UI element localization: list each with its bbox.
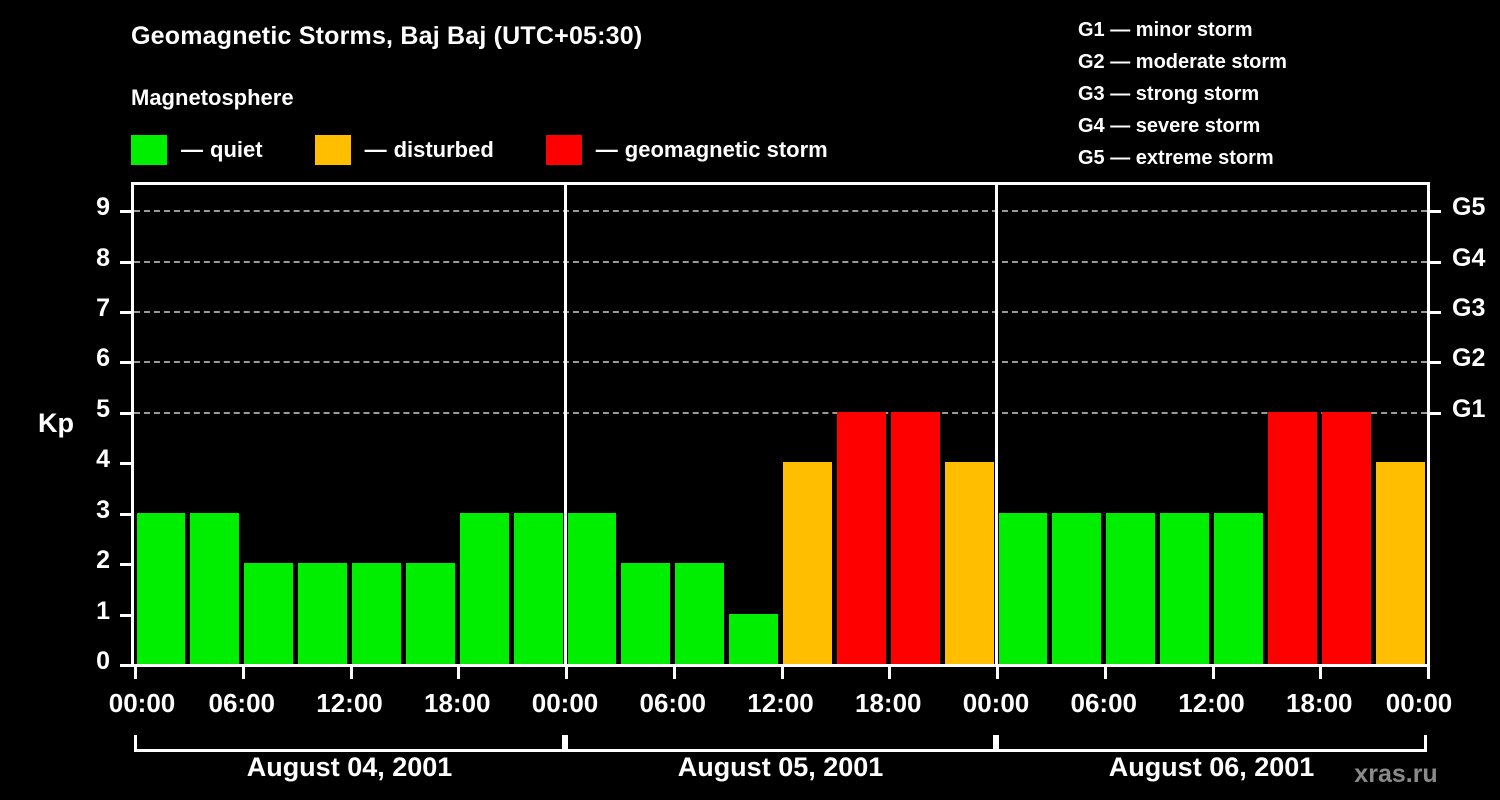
y-tick-mark-9 xyxy=(120,210,131,213)
x-tick-mark-10 xyxy=(1212,667,1215,679)
g-tick-label-G3: G3 xyxy=(1452,294,1485,323)
bar xyxy=(568,513,617,664)
legend-dash: — xyxy=(365,139,387,161)
legend-entry-quiet: —quiet xyxy=(131,132,263,168)
g-tick-mark-G2 xyxy=(1430,361,1441,364)
bar xyxy=(298,563,347,664)
g-tick-label-G4: G4 xyxy=(1452,244,1485,273)
bar xyxy=(675,563,724,664)
date-label-1: August 04, 2001 xyxy=(247,752,453,783)
bar xyxy=(1376,462,1425,664)
legend-label: geomagnetic storm xyxy=(625,139,828,161)
g-tick-mark-G3 xyxy=(1430,311,1441,314)
gridline-kp-9 xyxy=(134,210,1427,212)
x-tick-label-4: 00:00 xyxy=(532,688,599,719)
x-tick-label-2: 12:00 xyxy=(316,688,383,719)
y-tick-mark-1 xyxy=(120,614,131,617)
x-tick-label-1: 06:00 xyxy=(209,688,276,719)
bar xyxy=(1322,412,1371,664)
x-tick-mark-3 xyxy=(457,667,460,679)
gridline-kp-8 xyxy=(134,261,1427,263)
x-tick-mark-12 xyxy=(1427,667,1430,679)
bar xyxy=(244,563,293,664)
gridline-kp-6 xyxy=(134,361,1427,363)
y-tick-label-7: 7 xyxy=(80,294,110,323)
date-label-3: August 06, 2001 xyxy=(1109,752,1315,783)
y-tick-label-1: 1 xyxy=(80,597,110,626)
y-tick-label-5: 5 xyxy=(80,395,110,424)
bar xyxy=(621,563,670,664)
g-tick-label-G5: G5 xyxy=(1452,193,1485,222)
legend-label: disturbed xyxy=(394,139,494,161)
g-legend-row-2: G2 — moderate storm xyxy=(1078,46,1478,78)
storm-swatch xyxy=(546,135,582,165)
bar xyxy=(729,614,778,664)
day-divider-2 xyxy=(995,185,998,664)
legend-entry-disturbed: —disturbed xyxy=(315,132,494,168)
x-tick-mark-11 xyxy=(1319,667,1322,679)
x-tick-mark-2 xyxy=(350,667,353,679)
x-tick-label-10: 12:00 xyxy=(1178,688,1245,719)
g-scale-legend: G1 — minor stormG2 — moderate stormG3 — … xyxy=(1078,14,1478,174)
y-tick-mark-8 xyxy=(120,261,131,264)
x-tick-label-9: 06:00 xyxy=(1071,688,1138,719)
gridline-kp-5 xyxy=(134,412,1427,414)
bar xyxy=(352,563,401,664)
x-tick-label-12: 00:00 xyxy=(1386,688,1453,719)
g-legend-row-1: G1 — minor storm xyxy=(1078,14,1478,46)
g-legend-row-5: G5 — extreme storm xyxy=(1078,142,1478,174)
y-tick-mark-6 xyxy=(120,361,131,364)
bar xyxy=(783,462,832,664)
page-title: Geomagnetic Storms, Baj Baj (UTC+05:30) xyxy=(131,22,642,51)
bar xyxy=(837,412,886,664)
bar xyxy=(999,513,1048,664)
legend-dash: — xyxy=(181,139,203,161)
y-tick-label-0: 0 xyxy=(80,647,110,676)
g-tick-label-G1: G1 xyxy=(1452,395,1485,424)
y-tick-label-4: 4 xyxy=(80,445,110,474)
x-tick-mark-5 xyxy=(673,667,676,679)
y-tick-label-3: 3 xyxy=(80,496,110,525)
g-legend-row-4: G4 — severe storm xyxy=(1078,110,1478,142)
x-tick-label-5: 06:00 xyxy=(640,688,707,719)
x-tick-mark-0 xyxy=(134,667,137,679)
y-tick-mark-2 xyxy=(120,563,131,566)
x-tick-label-6: 12:00 xyxy=(747,688,814,719)
gridline-kp-7 xyxy=(134,311,1427,313)
x-tick-label-3: 18:00 xyxy=(424,688,491,719)
color-legend: —quiet—disturbed—geomagnetic storm xyxy=(131,132,828,168)
x-tick-mark-1 xyxy=(242,667,245,679)
y-tick-mark-5 xyxy=(120,412,131,415)
legend-entry-geomagnetic-storm: —geomagnetic storm xyxy=(546,132,828,168)
day-divider-1 xyxy=(564,185,567,664)
bar xyxy=(514,513,563,664)
x-tick-mark-7 xyxy=(888,667,891,679)
plot-inner xyxy=(134,185,1427,664)
g-tick-mark-G1 xyxy=(1430,412,1441,415)
bar xyxy=(460,513,509,664)
x-tick-label-0: 00:00 xyxy=(109,688,176,719)
y-tick-mark-7 xyxy=(120,311,131,314)
x-tick-label-8: 00:00 xyxy=(963,688,1030,719)
y-tick-mark-4 xyxy=(120,462,131,465)
bar xyxy=(406,563,455,664)
quiet-swatch xyxy=(131,135,167,165)
bar xyxy=(190,513,239,664)
y-tick-label-8: 8 xyxy=(80,244,110,273)
watermark: xras.ru xyxy=(1354,760,1437,789)
y-tick-label-2: 2 xyxy=(80,546,110,575)
y-tick-mark-3 xyxy=(120,513,131,516)
legend-dash: — xyxy=(596,139,618,161)
date-label-2: August 05, 2001 xyxy=(678,752,884,783)
y-tick-label-9: 9 xyxy=(80,193,110,222)
x-tick-mark-4 xyxy=(565,667,568,679)
bar xyxy=(891,412,940,664)
g-legend-row-3: G3 — strong storm xyxy=(1078,78,1478,110)
date-bracket-2 xyxy=(565,735,996,752)
date-bracket-3 xyxy=(996,735,1427,752)
bar xyxy=(137,513,186,664)
plot-area xyxy=(131,182,1430,667)
bar xyxy=(1106,513,1155,664)
bar xyxy=(1160,513,1209,664)
bar xyxy=(1268,412,1317,664)
g-tick-label-G2: G2 xyxy=(1452,344,1485,373)
y-tick-mark-0 xyxy=(120,664,131,667)
x-tick-label-11: 18:00 xyxy=(1286,688,1353,719)
x-tick-mark-9 xyxy=(1104,667,1107,679)
x-tick-mark-8 xyxy=(996,667,999,679)
x-tick-mark-6 xyxy=(781,667,784,679)
legend-label: quiet xyxy=(210,139,263,161)
y-axis-title: Kp xyxy=(38,408,74,439)
g-tick-mark-G4 xyxy=(1430,261,1441,264)
date-bracket-1 xyxy=(134,735,565,752)
bar xyxy=(945,462,994,664)
y-tick-label-6: 6 xyxy=(80,344,110,373)
disturbed-swatch xyxy=(315,135,351,165)
section-label: Magnetosphere xyxy=(131,85,294,111)
bar xyxy=(1052,513,1101,664)
g-tick-mark-G5 xyxy=(1430,210,1441,213)
bar xyxy=(1214,513,1263,664)
x-tick-label-7: 18:00 xyxy=(855,688,922,719)
